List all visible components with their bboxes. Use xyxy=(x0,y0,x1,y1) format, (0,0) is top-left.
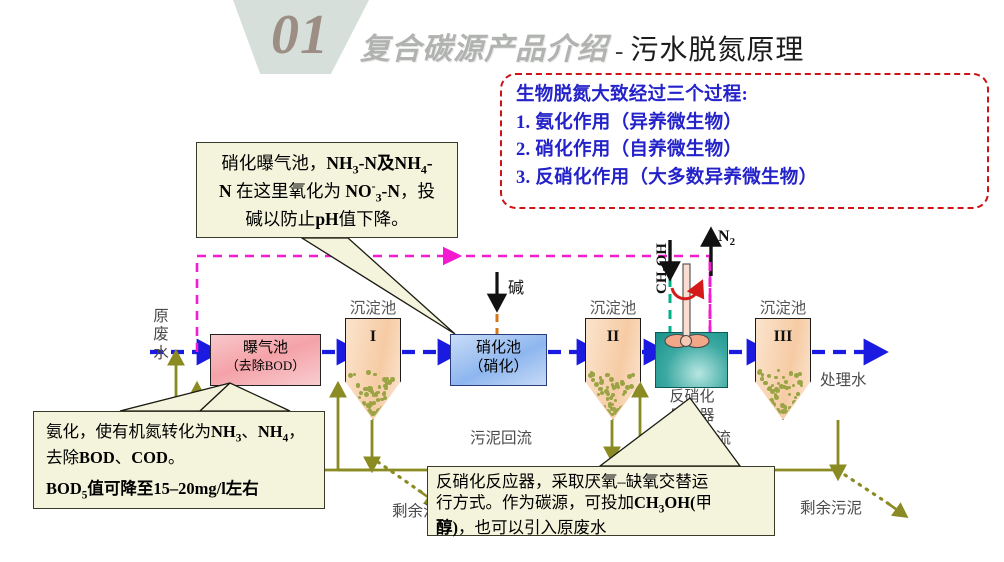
alkali-label: 碱 xyxy=(508,280,524,299)
section-number-label: 01 xyxy=(240,2,360,68)
effluent-label: 处理水 xyxy=(820,372,867,390)
clarifier-3-roman: III xyxy=(755,328,811,346)
denitrification-reactor-label-line1: 反硝化 xyxy=(640,388,744,407)
aeration-tank-label: 曝气池 （去除BOD） xyxy=(210,336,321,374)
callout-denitrification-line2: 行方式。作为碳源，可投加CH3OH(甲 xyxy=(436,492,768,517)
sludge-return-label: 污泥回流 xyxy=(470,430,532,448)
methanol-label: CH3OH xyxy=(654,243,674,294)
callout-ammonification-line2: 去除BOD、COD。 xyxy=(46,447,314,469)
clarifier-3-caption: 沉淀池 xyxy=(746,296,820,318)
callout-denitrification-line3: 醇)，也可以引入原废水 xyxy=(436,517,768,538)
page-title-subtitle: 污水脱氮原理 xyxy=(630,28,804,68)
callout-denitrification-line1: 反硝化反应器，采取厌氧–缺氧交替运 xyxy=(436,471,768,492)
callout-denitrification-reactor: 反硝化反应器，采取厌氧–缺氧交替运 行方式。作为碳源，可投加CH3OH(甲 醇)… xyxy=(427,466,775,536)
denitrification-reactor xyxy=(655,332,728,388)
aeration-tank-label-line2: （去除BOD） xyxy=(210,358,321,374)
callout-ammonification-line3: BOD5值可降至15–20mg/l左右 xyxy=(46,478,314,504)
aeration-tank-label-line1: 曝气池 xyxy=(210,339,321,358)
clarifier-1-caption: 沉淀池 xyxy=(336,296,410,318)
denitrification-reactor-label-line2: 反应器 xyxy=(640,407,744,426)
nitrification-tank-label-line1: 硝化池 xyxy=(450,339,547,358)
nitrogen-gas-label: N2 xyxy=(718,228,735,249)
denitrification-reactor-label: 反硝化 反应器 xyxy=(640,388,744,425)
callout-nitrification-line1: 硝化曝气池，NH3-N及NH4- xyxy=(206,151,448,178)
waste-sludge-label-2: 剩余污泥 xyxy=(800,500,862,518)
note-item-3: 3. 反硝化作用（大多数异养微生物） xyxy=(516,164,977,192)
callout-ammonification: 氨化，使有机氮转化为NH3、NH4， 去除BOD、COD。 BOD5值可降至15… xyxy=(33,411,325,509)
nitrification-tank-label-line2: （硝化） xyxy=(450,358,547,377)
clarifier-3: III xyxy=(755,318,811,420)
influent-label: 原废水 xyxy=(152,308,170,363)
page-title-main: 复合碳源产品介绍 xyxy=(360,24,608,68)
clarifier-1: I xyxy=(345,318,401,420)
nitrification-tank-label: 硝化池 （硝化） xyxy=(450,336,547,377)
callout-nitrification-line2: N 在这里氧化为 NO-3-N，投 xyxy=(206,178,448,206)
clarifier-2: II xyxy=(585,318,641,420)
clarifier-2-roman: II xyxy=(585,328,641,346)
clarifier-1-roman: I xyxy=(345,328,401,346)
page-title-separator: - xyxy=(615,38,623,66)
slide-canvas: 01 复合碳源产品介绍 - 污水脱氮原理 生物脱氮大致经过三个过程: 1. 氨化… xyxy=(0,0,1004,562)
note-item-2: 2. 硝化作用（自养微生物） xyxy=(516,136,977,164)
note-item-1: 1. 氨化作用（异养微生物） xyxy=(516,109,977,137)
return-label: 回流 xyxy=(700,430,731,448)
callout-nitrification-aeration: 硝化曝气池，NH3-N及NH4- N 在这里氧化为 NO-3-N，投 碱以防止p… xyxy=(196,142,458,238)
clarifier-2-caption: 沉淀池 xyxy=(576,296,650,318)
callout-ammonification-line1: 氨化，使有机氮转化为NH3、NH4， xyxy=(46,421,314,447)
biological-denitrification-note: 生物脱氮大致经过三个过程: 1. 氨化作用（异养微生物） 2. 硝化作用（自养微… xyxy=(500,73,989,209)
page-title: 复合碳源产品介绍 - 污水脱氮原理 xyxy=(360,24,804,66)
callout-nitrification-line3: 碱以防止pH值下降。 xyxy=(206,207,448,232)
note-heading: 生物脱氮大致经过三个过程: xyxy=(516,81,977,109)
